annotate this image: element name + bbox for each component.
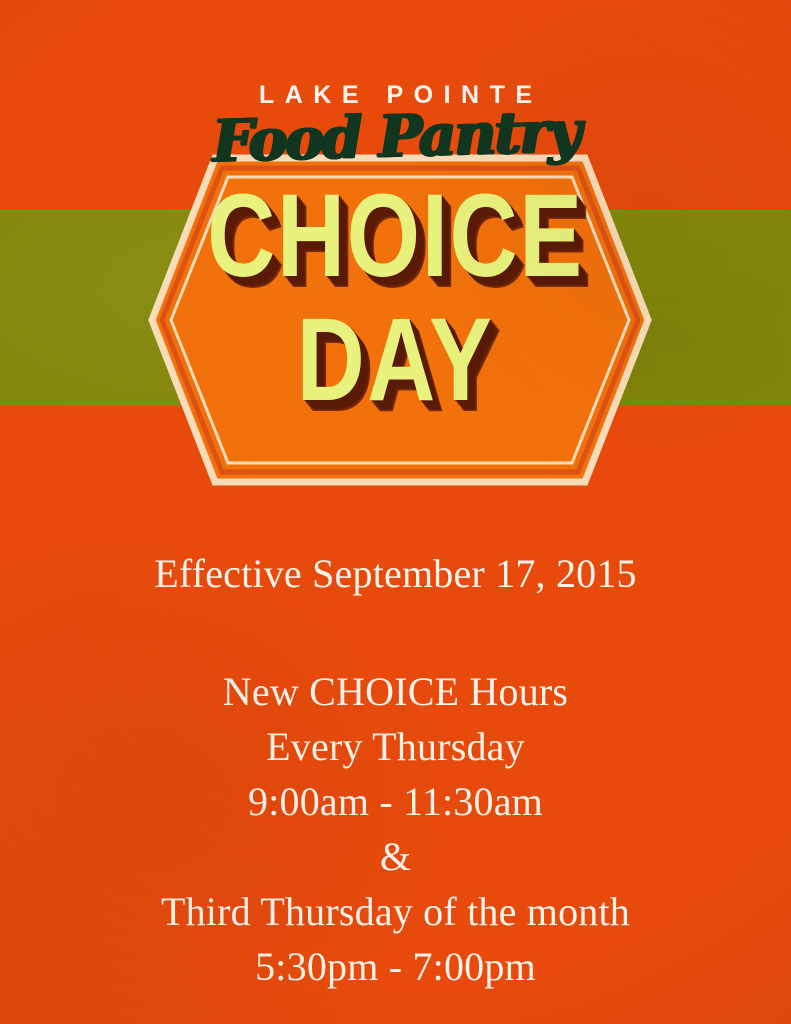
hours-line: Third Thursday of the month: [0, 884, 791, 939]
hours-line: Every Thursday: [0, 719, 791, 774]
hours-line: 5:30pm - 7:00pm: [0, 939, 791, 994]
headline-day-text: DAY: [79, 310, 712, 411]
hours-line: New CHOICE Hours: [0, 664, 791, 719]
hours-line: 9:00am - 11:30am: [0, 774, 791, 829]
headline-choice: CHOICE: [0, 186, 791, 287]
hours-line: &: [0, 829, 791, 884]
effective-date: Effective September 17, 2015: [0, 552, 791, 596]
headline-choice-text: CHOICE: [79, 186, 712, 287]
hours-block: New CHOICE Hours Every Thursday 9:00am -…: [0, 664, 791, 994]
headline-day: DAY: [0, 310, 791, 411]
poster-canvas: LAKE POINTE Food Pantry CHOICE DAY Effec…: [0, 0, 791, 1024]
